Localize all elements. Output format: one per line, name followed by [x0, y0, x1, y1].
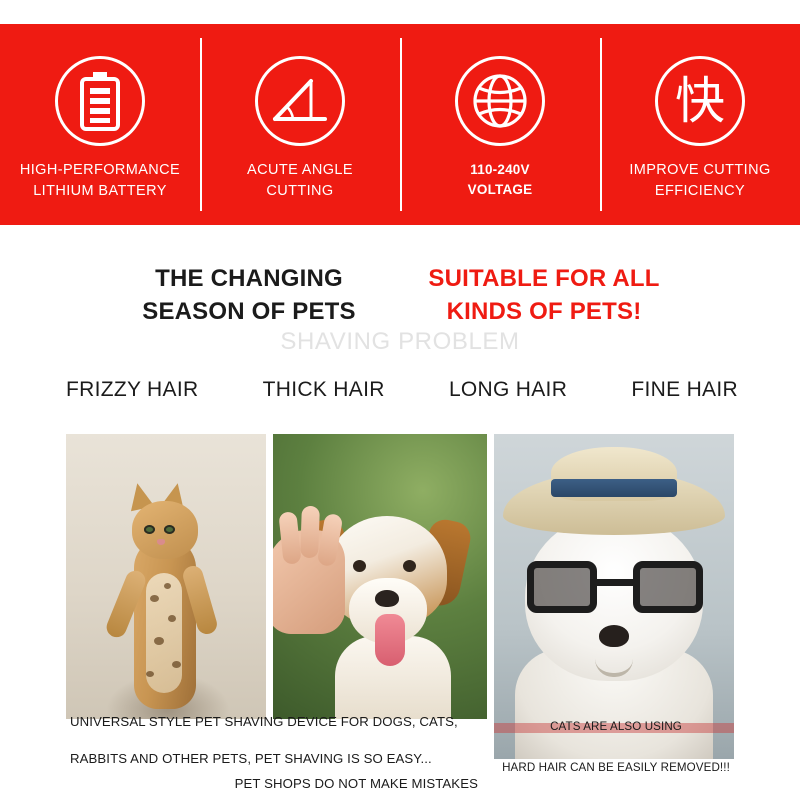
cat-spot — [172, 661, 181, 668]
feature-banner: HIGH-PERFORMANCE LITHIUM BATTERY ACUTE A… — [0, 24, 800, 225]
dog-eye-right — [403, 560, 416, 572]
feature-battery-label: HIGH-PERFORMANCE LITHIUM BATTERY — [20, 160, 180, 202]
feature-voltage-label: 110-240V VOLTAGE — [468, 160, 533, 199]
cat-spot — [154, 637, 164, 645]
headline-left: THE CHANGING SEASON OF PETS — [124, 262, 374, 328]
cat-spot — [146, 671, 154, 677]
cat-nose — [157, 539, 165, 545]
battery-icon — [55, 56, 145, 146]
headline-right: SUITABLE FOR ALL KINDS OF PETS! — [404, 262, 684, 328]
hand-finger — [300, 506, 320, 559]
feature-efficiency-label: IMPROVE CUTTING EFFICIENCY — [629, 160, 770, 202]
dog-eye-left — [353, 560, 366, 572]
photo-dog-with-hand — [273, 434, 488, 719]
caption-right: CATS ARE ALSO USING HARD HAIR CAN BE EAS… — [494, 697, 738, 778]
glasses-icon — [527, 561, 703, 613]
headline-block: THE CHANGING SEASON OF PETS SUITABLE FOR… — [0, 250, 800, 360]
glasses-bridge — [597, 579, 633, 586]
glasses-lens-right — [633, 561, 703, 613]
cat-illustration — [106, 465, 226, 715]
hair-type-thick: THICK HAIR — [263, 378, 385, 402]
headline-ghost: SHAVING PROBLEM — [200, 328, 600, 356]
photo-cat-standing — [66, 434, 266, 719]
feature-voltage: 110-240V VOLTAGE — [400, 24, 600, 225]
caption-left-line3: PET SHOPS DO NOT MAKE MISTAKES — [70, 775, 478, 794]
caption-right-line1: CATS ARE ALSO USING — [550, 720, 682, 733]
cat-eye-left — [144, 525, 155, 534]
white-dog-nose — [599, 625, 629, 647]
straw-hat-band — [551, 479, 677, 497]
feature-acute-angle: ACUTE ANGLE CUTTING — [200, 24, 400, 225]
caption-left-line1: UNIVERSAL STYLE PET SHAVING DEVICE FOR D… — [70, 714, 458, 729]
acute-angle-icon — [255, 56, 345, 146]
hair-type-fine: FINE HAIR — [631, 378, 738, 402]
feature-efficiency: 快 IMPROVE CUTTING EFFICIENCY — [600, 24, 800, 225]
hair-type-long: LONG HAIR — [449, 378, 567, 402]
speed-cjk-glyph: 快 — [675, 76, 725, 126]
cat-spot — [168, 615, 176, 622]
globe-icon — [455, 56, 545, 146]
cat-spot — [164, 583, 171, 589]
caption-left-line2: RABBITS AND OTHER PETS, PET SHAVING IS S… — [70, 751, 432, 766]
feature-acute-angle-label: ACUTE ANGLE CUTTING — [247, 160, 353, 202]
feature-battery: HIGH-PERFORMANCE LITHIUM BATTERY — [0, 24, 200, 225]
caption-right-line2: HARD HAIR CAN BE EASILY REMOVED!!! — [502, 761, 730, 774]
glasses-lens-left — [527, 561, 597, 613]
hair-type-row: FRIZZY HAIR THICK HAIR LONG HAIR FINE HA… — [66, 378, 738, 402]
caption-left: UNIVERSAL STYLE PET SHAVING DEVICE FOR D… — [70, 694, 478, 812]
dog-nose — [375, 590, 399, 607]
hair-type-frizzy: FRIZZY HAIR — [66, 378, 198, 402]
cat-spot — [150, 595, 159, 602]
dog-tongue — [375, 614, 405, 666]
speed-cjk-icon: 快 — [655, 56, 745, 146]
cat-eye-right — [164, 525, 175, 534]
